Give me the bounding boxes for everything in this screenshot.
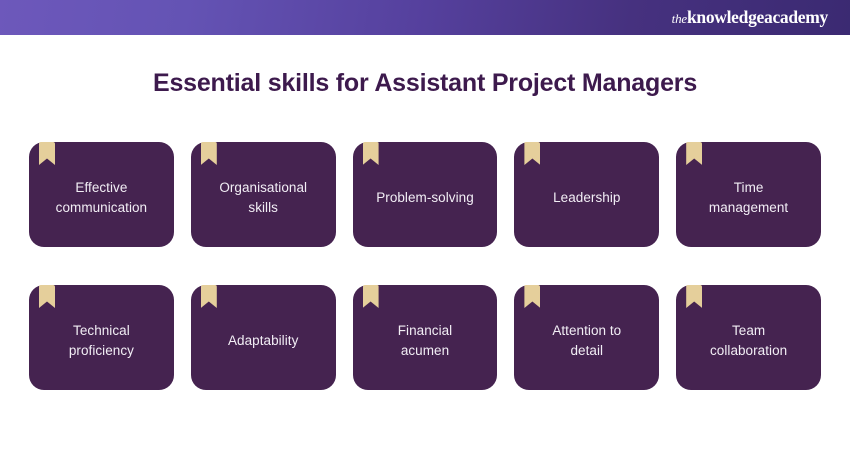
skill-card[interactable]: Leadership	[514, 142, 659, 247]
skill-card-label: Organisational skills	[219, 178, 307, 217]
skill-card-label: Time management	[709, 178, 788, 217]
logo-name-text: knowledgeacademy	[687, 9, 828, 27]
skill-card-label: Problem-solving	[376, 188, 474, 208]
skill-card[interactable]: Effective communication	[29, 142, 174, 247]
skill-card-label: Effective communication	[56, 178, 147, 217]
page-title: Essential skills for Assistant Project M…	[0, 69, 850, 98]
skill-card[interactable]: Technical proficiency	[29, 285, 174, 390]
bookmark-ribbon-icon	[524, 142, 540, 165]
skill-card[interactable]: Time management	[676, 142, 821, 247]
bookmark-ribbon-icon	[201, 142, 217, 165]
bookmark-ribbon-icon	[524, 285, 540, 308]
knowledge-academy-logo: theknowledgeacademy	[672, 9, 828, 27]
bookmark-ribbon-icon	[39, 142, 55, 165]
skill-card[interactable]: Organisational skills	[191, 142, 336, 247]
skill-card[interactable]: Adaptability	[191, 285, 336, 390]
bookmark-ribbon-icon	[201, 285, 217, 308]
bookmark-ribbon-icon	[686, 142, 702, 165]
skill-card[interactable]: Financial acumen	[353, 285, 498, 390]
skill-card-label: Team collaboration	[710, 321, 787, 360]
skill-card-label: Leadership	[553, 188, 620, 208]
bookmark-ribbon-icon	[363, 285, 379, 308]
skill-card-label: Adaptability	[228, 331, 298, 351]
skill-card-label: Financial acumen	[398, 321, 452, 360]
skill-card[interactable]: Attention to detail	[514, 285, 659, 390]
infographic-page: theknowledgeacademy Essential skills for…	[0, 0, 850, 450]
skill-card[interactable]: Team collaboration	[676, 285, 821, 390]
skill-card-label: Attention to detail	[552, 321, 621, 360]
brand-header-bar: theknowledgeacademy	[0, 0, 850, 35]
skills-row-1: Effective communication Organisational s…	[29, 142, 821, 247]
skills-row-2: Technical proficiency Adaptability Finan…	[29, 285, 821, 390]
skill-card-label: Technical proficiency	[69, 321, 134, 360]
skill-card[interactable]: Problem-solving	[353, 142, 498, 247]
bookmark-ribbon-icon	[39, 285, 55, 308]
bookmark-ribbon-icon	[686, 285, 702, 308]
skills-card-grid: Effective communication Organisational s…	[29, 142, 821, 390]
bookmark-ribbon-icon	[363, 142, 379, 165]
logo-prefix-text: the	[672, 12, 687, 25]
